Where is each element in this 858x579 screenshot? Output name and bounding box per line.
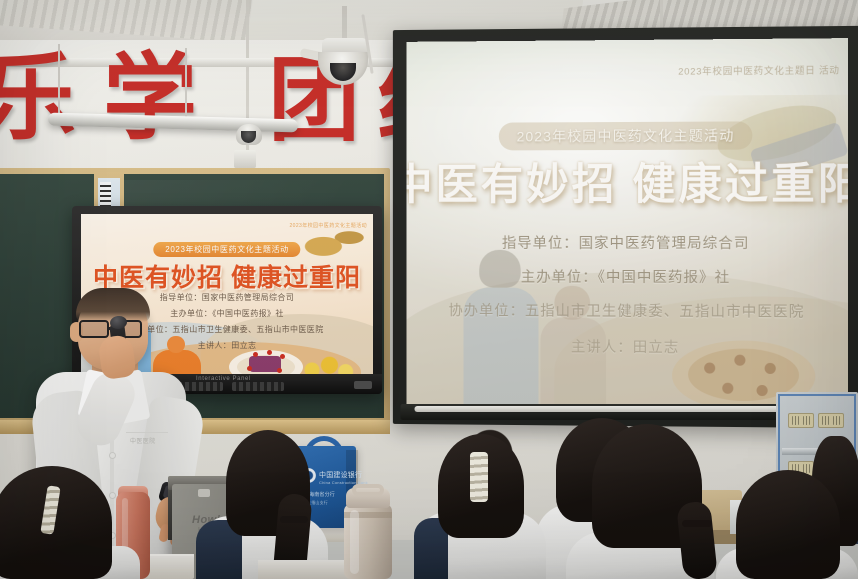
thermos-handle [352,484,384,496]
tv-art-figure-head [167,336,185,353]
podium-button[interactable] [198,489,210,497]
coat-button [109,492,116,499]
light-wire-right [185,48,187,118]
power-outlet-1[interactable] [788,413,814,428]
coat-button [109,452,116,459]
projection-watermark: 2023年校园中医药文化主题日 活动 [678,62,840,77]
projection-art-person-2-body [540,318,606,410]
interactive-panel-ports-2 [232,382,284,391]
projection-art-person-1-head [479,250,520,288]
coat-embroidery-text: 中医医院 [130,436,156,445]
projection-art-dot [734,355,745,366]
projection-art-dot [704,362,715,373]
thermos-highlight [350,510,359,574]
projection-screen-surface: 2023年校园中医药文化主题日 活动 2023年校园中医药文化主题活动 中医有妙… [407,38,848,412]
eyeglasses-icon [79,320,109,338]
tv-line-1: 指导单位：国家中医药管理局综合司 [160,292,294,303]
projection-screen-weight-bar [414,406,837,412]
hair-band [682,520,712,527]
projection-title: 中医有妙招 健康过重阳 [407,149,848,212]
wall-character-1: 乐 [0,52,76,146]
camera-mount-rod [342,6,347,42]
tv-watermark: 2023年校园中医药文化主题活动 [289,222,367,229]
tv-art-berry [253,352,258,357]
tv-art-berry [280,354,285,359]
projection-art-dot [757,385,768,396]
tote-bag-text-1: 中国建设银行 [319,470,362,480]
tv-title: 中医有妙招 健康过重阳 [93,258,361,294]
tv-line-3: 协办单位：五指山市卫生健康委、五指山市中医医院 [130,324,323,335]
tv-art-berry [277,368,282,373]
tv-line-4: 主讲人：田立志 [198,340,257,351]
projection-line-2: 主办单位：《中国中医药报》社 [521,266,730,287]
projection-line-4: 主讲人：田立志 [571,336,679,358]
tv-art-berry [267,350,272,355]
projection-line-3: 协办单位：五指山市卫生健康委、五指山市中医医院 [448,299,804,321]
light-wire-left [58,44,60,118]
student-head-foreground [0,466,112,579]
power-outlet-2[interactable] [818,413,844,428]
tv-art-chrysanthemum [291,354,361,374]
classroom-photo: 乐 学 团 结 2023年校园中医药文 [0,0,858,579]
wall-character-2: 学 [103,52,197,146]
projection-art-dot [722,383,733,394]
projection-art-dot [765,363,776,374]
projection-line-1: 指导单位：国家中医药管理局综合司 [502,232,750,253]
tv-art-figure-body [153,350,201,374]
wall-junction-box [234,150,256,168]
hair-clip-icon [470,452,488,502]
tv-art-berry [247,366,252,371]
projection-badge: 2023年校园中医药文化主题活动 [499,121,753,150]
student-head [736,470,840,579]
tote-bag-text-3: 海南省分行 [309,491,335,498]
tv-line-2: 主办单位：《中国中医药报》社 [170,308,284,319]
interactive-panel-indicator [354,381,372,389]
tv-badge: 2023年校园中医药文化主题活动 [153,242,300,257]
hair-band [280,516,308,523]
